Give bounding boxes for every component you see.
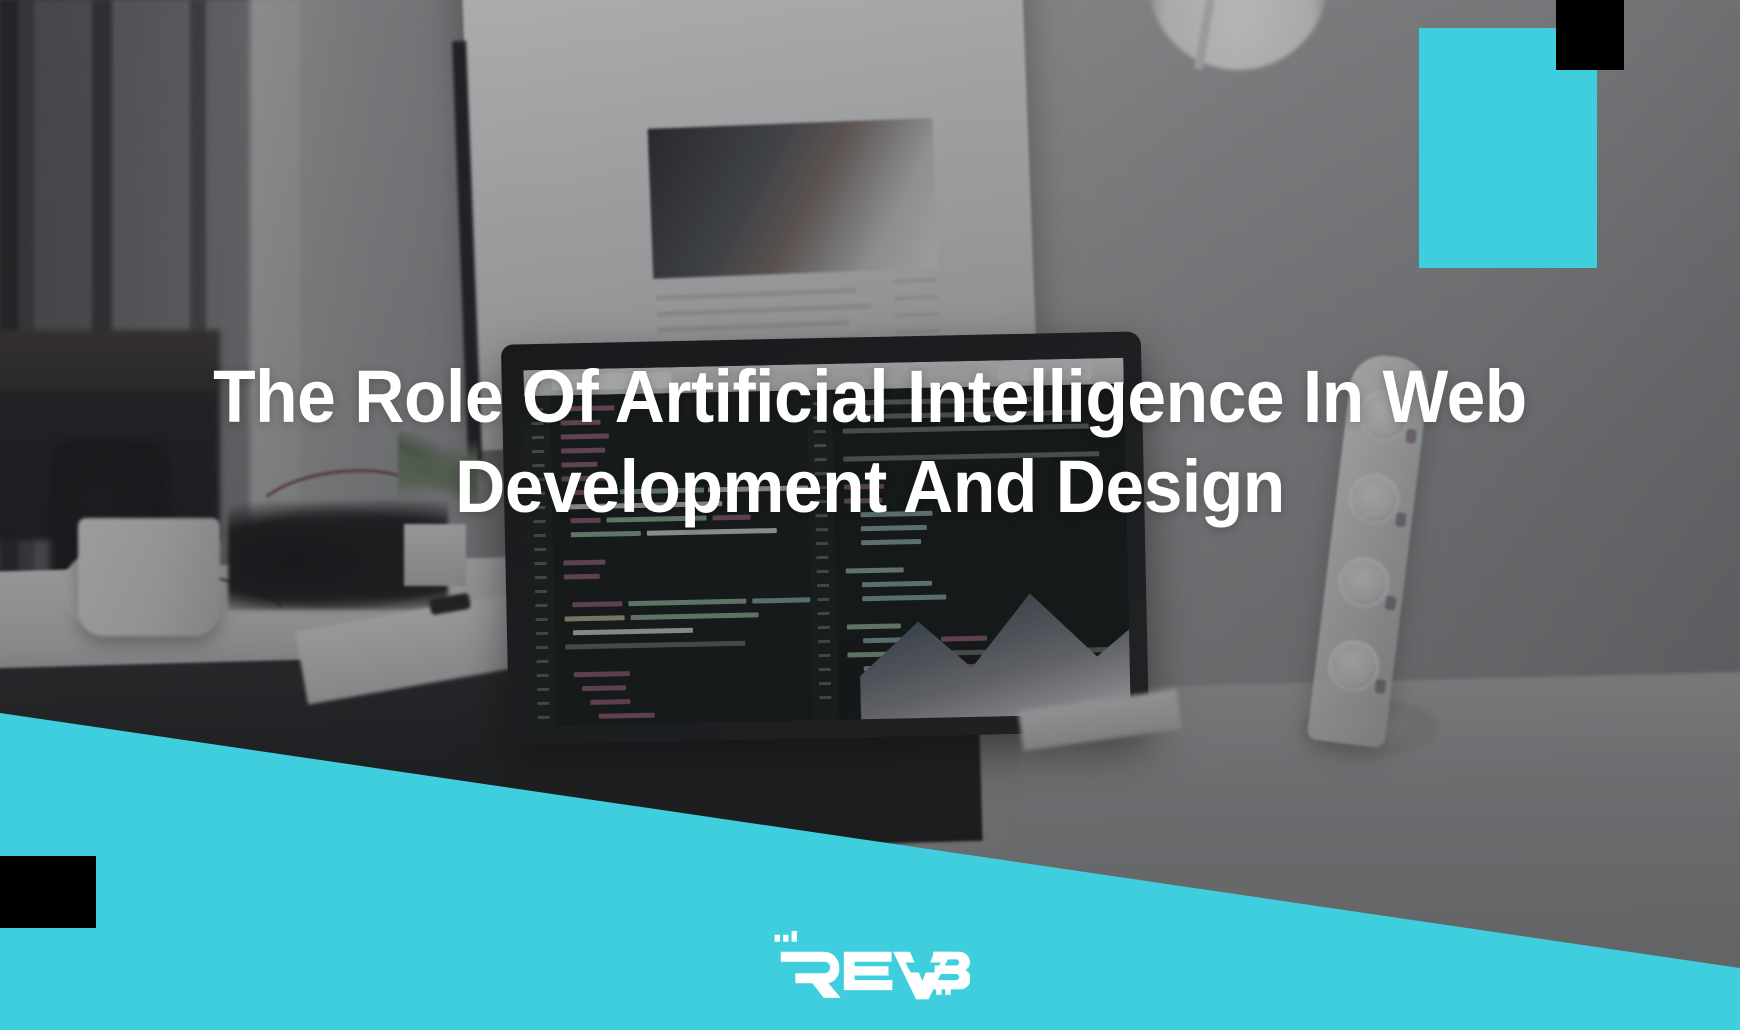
page-title-line-1: The Role Of Artificial Intelligence In W… [213,355,1527,438]
black-square-top-right [1556,0,1624,70]
page-title-line-2: Development And Design [109,442,1632,532]
banner-title-block: The Role Of Artificial Intelligence In W… [0,352,1740,533]
blog-hero-banner: The Role Of Artificial Intelligence In W… [0,0,1740,1030]
black-square-bottom-left [0,856,96,928]
reverb-logo[interactable] [770,928,970,1000]
page-title: The Role Of Artificial Intelligence In W… [109,352,1632,533]
